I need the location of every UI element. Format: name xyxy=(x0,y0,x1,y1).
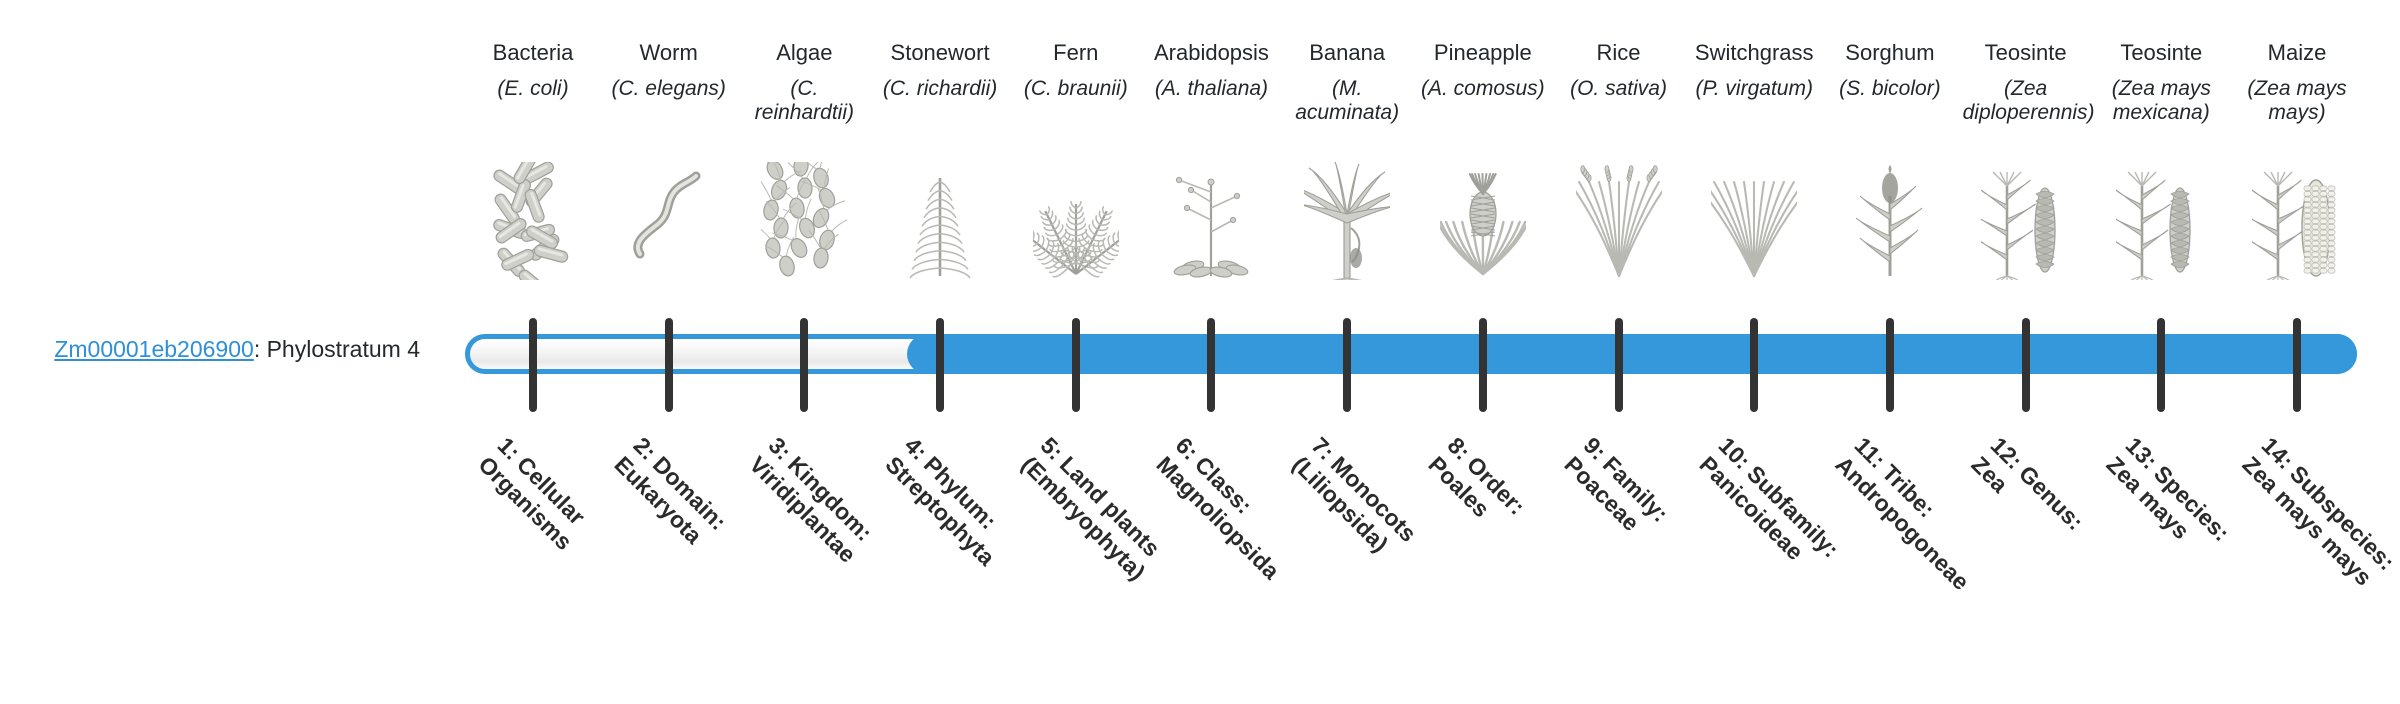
species-scientific-name: (C. braunii) xyxy=(1013,77,1139,101)
nematode-worm-icon xyxy=(606,162,732,280)
phylostratum-tick-5[interactable] xyxy=(1072,318,1080,412)
phylostratum-tick-9[interactable] xyxy=(1615,318,1623,412)
species-column-fern-5: Fern(C. braunii) xyxy=(1013,40,1139,101)
species-common-name: Teosinte xyxy=(1963,40,2089,65)
species-column-banana-7: Banana(M. acuminata) xyxy=(1284,40,1410,124)
species-scientific-name: (Zea diploperennis) xyxy=(1963,77,2089,124)
phylostratum-tick-6[interactable] xyxy=(1207,318,1215,412)
rank-label-6: 6: Class:Magnoliopsida xyxy=(1151,432,1423,704)
gene-label-separator: : xyxy=(254,336,267,362)
phylostratum-tick-11[interactable] xyxy=(1886,318,1894,412)
switchgrass-icon xyxy=(1691,162,1817,280)
species-common-name: Pineapple xyxy=(1420,40,1546,65)
phylostratum-figure: Zm00001eb206900: Phylostratum 4 Bacteria… xyxy=(0,0,2400,580)
species-scientific-name: (M. acuminata) xyxy=(1284,77,1410,124)
rank-label-2: 2: Domain:Eukaryota xyxy=(608,432,880,704)
bacteria-rods-icon xyxy=(470,162,596,280)
species-column-teosinte-12: Teosinte(Zea diploperennis) xyxy=(1963,40,2089,124)
rank-label-4: 4: Phylum:Streptophyta xyxy=(880,432,1152,704)
phylostratum-tick-7[interactable] xyxy=(1343,318,1351,412)
phylostratum-tick-3[interactable] xyxy=(800,318,808,412)
species-column-switchgrass-10: Switchgrass(P. virgatum) xyxy=(1691,40,1817,101)
species-column-rice-9: Rice(O. sativa) xyxy=(1556,40,1682,101)
rank-line-1: Genus: xyxy=(2014,460,2089,535)
species-column-teosinte-13: Teosinte(Zea mays mexicana) xyxy=(2098,40,2224,124)
species-column-sorghum-11: Sorghum(S. bicolor) xyxy=(1827,40,1953,101)
species-scientific-name: (S. bicolor) xyxy=(1827,77,1953,101)
phylostratum-tick-14[interactable] xyxy=(2293,318,2301,412)
rank-label-11: 11: Tribe:Andropogoneae xyxy=(1830,432,2102,704)
species-common-name: Arabidopsis xyxy=(1148,40,1274,65)
phylostratum-tick-4[interactable] xyxy=(936,318,944,412)
phylostratum-tick-10[interactable] xyxy=(1750,318,1758,412)
progress-fill xyxy=(907,334,2357,374)
species-common-name: Maize xyxy=(2234,40,2360,65)
arabidopsis-icon xyxy=(1148,162,1274,280)
species-scientific-name: (P. virgatum) xyxy=(1691,77,1817,101)
rank-label-7: 7: Monocots(Liliopsida) xyxy=(1287,432,1559,704)
rank-label-12: 12: Genus:Zea xyxy=(1965,432,2237,704)
phylostratum-value: Phylostratum 4 xyxy=(267,336,420,362)
species-column-bacteria-1: Bacteria(E. coli) xyxy=(470,40,596,101)
phylostratum-tick-13[interactable] xyxy=(2157,318,2165,412)
rice-plant-icon xyxy=(1556,162,1682,280)
rank-label-5: 5: Land plants(Embryophyta) xyxy=(1015,432,1287,704)
pineapple-plant-icon xyxy=(1420,162,1546,280)
species-column-algae-3: Algae(C. reinhardtii) xyxy=(741,40,867,124)
species-common-name: Switchgrass xyxy=(1691,40,1817,65)
maize-plant-and-cob-icon xyxy=(2234,162,2360,280)
banana-plant-icon xyxy=(1284,162,1410,280)
species-common-name: Stonewort xyxy=(877,40,1003,65)
species-common-name: Bacteria xyxy=(470,40,596,65)
species-scientific-name: (Zea mays mays) xyxy=(2234,77,2360,124)
species-scientific-name: (C. reinhardtii) xyxy=(741,77,867,124)
phylostratum-tick-12[interactable] xyxy=(2022,318,2030,412)
species-scientific-name: (E. coli) xyxy=(470,77,596,101)
species-scientific-name: (A. comosus) xyxy=(1420,77,1546,101)
species-column-stonewort-4: Stonewort(C. richardii) xyxy=(877,40,1003,101)
species-common-name: Rice xyxy=(1556,40,1682,65)
species-scientific-name: (Zea mays mexicana) xyxy=(2098,77,2224,124)
phylostratum-progress-bar[interactable] xyxy=(465,334,2357,374)
phylostratum-tick-1[interactable] xyxy=(529,318,537,412)
species-common-name: Sorghum xyxy=(1827,40,1953,65)
phylostratum-tick-2[interactable] xyxy=(665,318,673,412)
rank-label-9: 9: Family:Poaceae xyxy=(1558,432,1830,704)
rank-label-3: 3: Kingdom:Viridiplantae xyxy=(744,432,1016,704)
species-common-name: Algae xyxy=(741,40,867,65)
sorghum-plant-icon xyxy=(1827,162,1953,280)
fern-frond-icon xyxy=(1013,162,1139,280)
species-common-name: Worm xyxy=(606,40,732,65)
species-common-name: Teosinte xyxy=(2098,40,2224,65)
teosinte-plant-and-ear-icon xyxy=(1963,162,2089,280)
species-scientific-name: (A. thaliana) xyxy=(1148,77,1274,101)
teosinte-plant-and-ear-icon xyxy=(2098,162,2224,280)
species-column-worm-2: Worm(C. elegans) xyxy=(606,40,732,101)
species-scientific-name: (O. sativa) xyxy=(1556,77,1682,101)
species-header-row: Bacteria(E. coli)Worm(C. elegans)Algae(C… xyxy=(470,40,2370,310)
species-common-name: Fern xyxy=(1013,40,1139,65)
phylostratum-tick-8[interactable] xyxy=(1479,318,1487,412)
species-column-arabidopsis-6: Arabidopsis(A. thaliana) xyxy=(1148,40,1274,101)
species-scientific-name: (C. richardii) xyxy=(877,77,1003,101)
stonewort-icon xyxy=(877,162,1003,280)
algae-cells-icon xyxy=(741,162,867,280)
rank-label-8: 8: Order:Poales xyxy=(1422,432,1694,704)
gene-phylostratum-label: Zm00001eb206900: Phylostratum 4 xyxy=(40,336,420,364)
gene-id-link[interactable]: Zm00001eb206900 xyxy=(54,336,254,362)
species-scientific-name: (C. elegans) xyxy=(606,77,732,101)
species-column-maize-14: Maize(Zea mays mays) xyxy=(2234,40,2360,124)
rank-label-1: 1: CellularOrganisms xyxy=(473,432,745,704)
rank-label-13: 13: Species:Zea mays xyxy=(2101,432,2373,704)
species-column-pineapple-8: Pineapple(A. comosus) xyxy=(1420,40,1546,101)
rank-label-10: 10: Subfamily:Panicoideae xyxy=(1694,432,1966,704)
species-common-name: Banana xyxy=(1284,40,1410,65)
